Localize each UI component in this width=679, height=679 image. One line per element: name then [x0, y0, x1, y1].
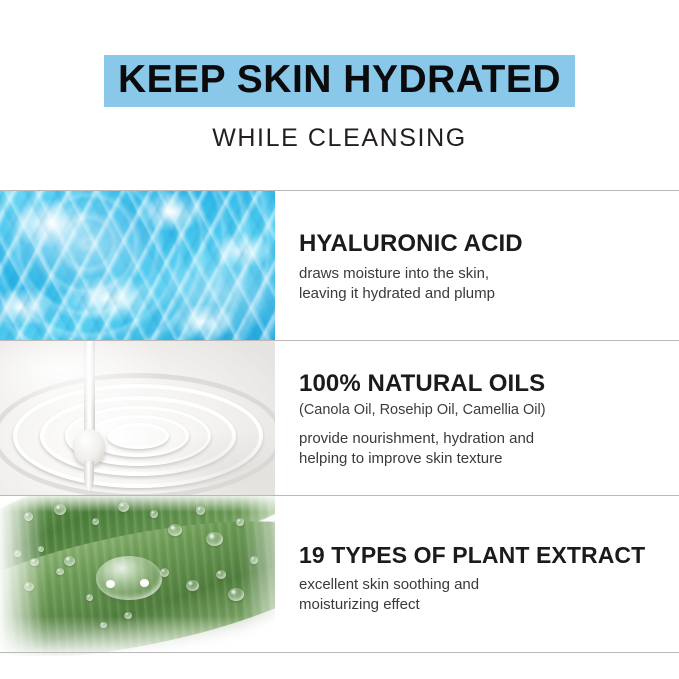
- page-title: KEEP SKIN HYDRATED: [118, 59, 561, 101]
- divider-row1-row2: [0, 340, 679, 341]
- benefit-body-line: leaving it hydrated and plump: [299, 284, 671, 304]
- benefit-body-line: moisturizing effect: [299, 595, 671, 615]
- benefit-image-leaf: [0, 496, 275, 656]
- leaf-water-droplet: [186, 580, 199, 591]
- benefit-copy-natural-oils: 100% NATURAL OILS (Canola Oil, Rosehip O…: [299, 341, 671, 495]
- benefit-row-natural-oils: 100% NATURAL OILS (Canola Oil, Rosehip O…: [0, 341, 679, 495]
- benefit-heading: 19 TYPES OF PLANT EXTRACT: [299, 540, 671, 570]
- benefit-body-line: helping to improve skin texture: [299, 449, 671, 469]
- benefit-heading: 100% NATURAL OILS: [299, 369, 671, 399]
- leaf-water-droplet: [206, 532, 223, 546]
- header: KEEP SKIN HYDRATED WHILE CLEANSING: [0, 0, 679, 190]
- divider-top: [0, 190, 679, 191]
- leaf-large-water-droplet: [96, 556, 162, 600]
- benefit-copy-plant-extract: 19 TYPES OF PLANT EXTRACT excellent skin…: [299, 496, 671, 656]
- leaf-fade-bottom: [0, 616, 275, 656]
- milk-pour-illustration: [0, 341, 275, 495]
- benefit-row-plant-extract: 19 TYPES OF PLANT EXTRACT excellent skin…: [0, 496, 679, 656]
- benefit-body: draws moisture into the skin, leaving it…: [299, 264, 671, 304]
- divider-row2-row3: [0, 495, 679, 496]
- leaf-droplets-illustration: [0, 496, 275, 656]
- leaf-water-droplet: [160, 568, 169, 577]
- divider-bottom: [0, 652, 679, 653]
- leaf-water-droplet: [168, 524, 182, 536]
- leaf-water-droplet: [216, 570, 226, 579]
- benefit-body: excellent skin soothing and moisturizing…: [299, 575, 671, 615]
- benefit-image-milk: [0, 341, 275, 495]
- benefit-body-line: excellent skin soothing and: [299, 575, 671, 595]
- title-highlight-band: KEEP SKIN HYDRATED: [104, 55, 575, 107]
- leaf-water-droplet: [92, 518, 99, 525]
- leaf-water-droplet: [64, 556, 75, 566]
- benefit-heading: HYALURONIC ACID: [299, 229, 671, 259]
- benefit-body: provide nourishment, hydration and helpi…: [299, 429, 671, 469]
- leaf-fade-right: [241, 496, 275, 656]
- leaf-water-droplet: [56, 568, 64, 575]
- milk-highlight-overlay: [0, 341, 275, 495]
- benefit-sub-note: (Canola Oil, Rosehip Oil, Camellia Oil): [299, 401, 671, 419]
- benefit-row-hyaluronic-acid: HYALURONIC ACID draws moisture into the …: [0, 191, 679, 340]
- product-benefits-infographic: KEEP SKIN HYDRATED WHILE CLEANSING HYALU…: [0, 0, 679, 679]
- page-title-wrapper: KEEP SKIN HYDRATED: [0, 55, 679, 107]
- benefit-body-line: provide nourishment, hydration and: [299, 429, 671, 449]
- leaf-water-droplet: [86, 594, 93, 601]
- benefit-image-water: [0, 191, 275, 340]
- water-highlight-glow: [0, 191, 275, 340]
- water-ripple-illustration: [0, 191, 275, 340]
- benefit-body-line: draws moisture into the skin,: [299, 264, 671, 284]
- page-subtitle: WHILE CLEANSING: [0, 124, 679, 153]
- benefit-copy-hyaluronic-acid: HYALURONIC ACID draws moisture into the …: [299, 191, 671, 340]
